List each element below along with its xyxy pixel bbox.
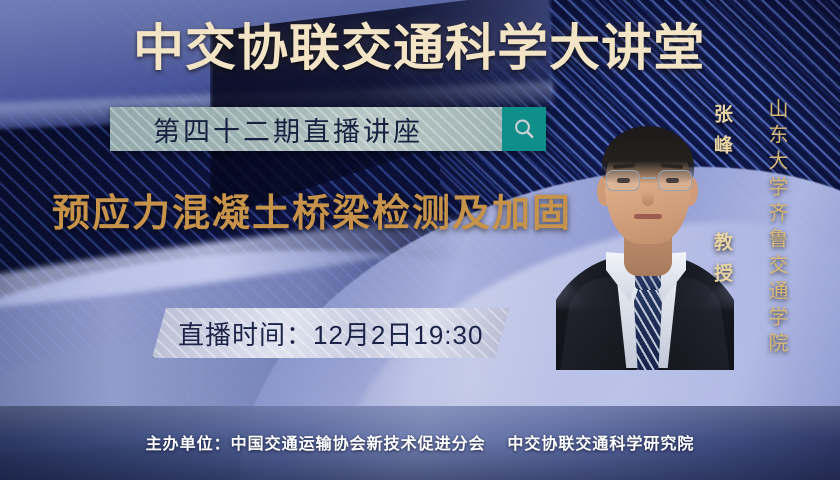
speaker-institute: 山东大学齐鲁交通学院 (762, 98, 791, 358)
glasses-lens-right (658, 170, 692, 191)
search-icon (512, 117, 536, 141)
lecture-topic: 预应力混凝土桥梁检测及加固 (52, 188, 612, 240)
live-time-text: 直播时间：12月2日19:30 (178, 315, 483, 352)
portrait-nose (642, 190, 654, 206)
live-time-badge: 直播时间：12月2日19:30 (152, 308, 509, 358)
live-lecture-poster: 中交协联交通科学大讲堂 第四十二期直播讲座 预应力混凝土桥梁检测及加固 直播时间… (0, 0, 840, 480)
portrait-glasses (604, 170, 694, 192)
portrait-mouth (634, 214, 662, 219)
episode-banner: 第四十二期直播讲座 (110, 107, 546, 151)
organizer-line: 主办单位：中国交通运输协会新技术促进分会 中交协联交通科学研究院 (0, 430, 840, 454)
portrait-tie (634, 280, 662, 376)
speaker-name: 张峰 教授 (708, 104, 735, 294)
page-title: 中交协联交通科学大讲堂 (133, 16, 704, 80)
glasses-bridge (642, 177, 656, 179)
search-button[interactable] (502, 107, 546, 151)
episode-label: 第四十二期直播讲座 (110, 107, 502, 151)
